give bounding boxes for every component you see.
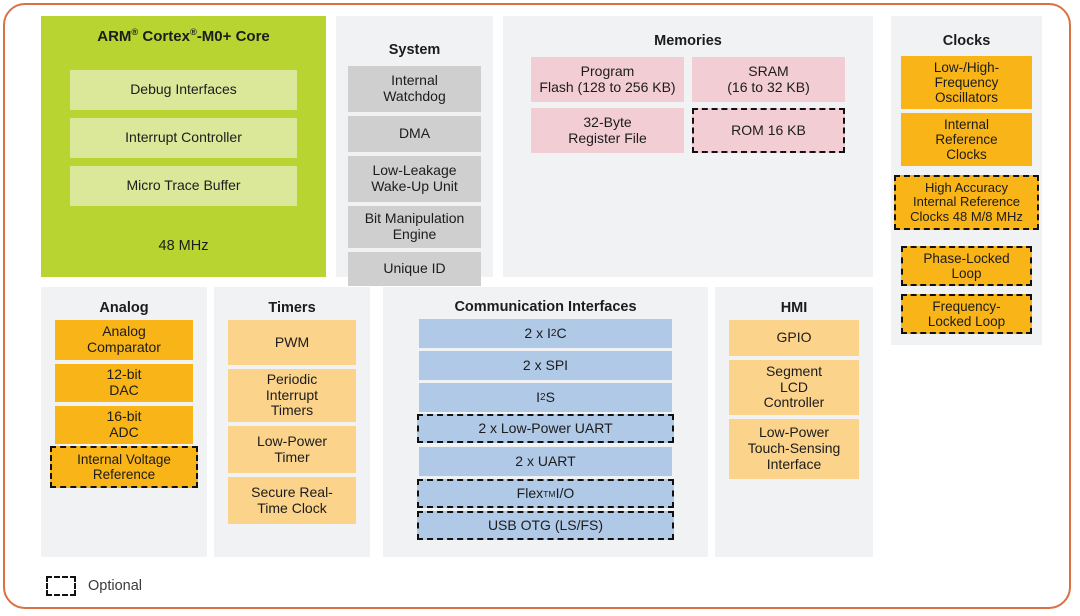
legend: Optional <box>46 576 142 596</box>
legend-optional-label: Optional <box>88 578 142 594</box>
comm-block-spi[interactable]: 2 x SPI <box>419 351 672 380</box>
timers-block-secure-real-time-clock[interactable]: Secure Real-Time Clock <box>228 477 356 524</box>
core-block-micro-trace-buffer[interactable]: Micro Trace Buffer <box>70 166 297 206</box>
block-diagram-canvas: ARM® Cortex®-M0+ Core Debug Interfaces I… <box>0 0 1080 616</box>
panel-hmi: HMI GPIO SegmentLCDController Low-PowerT… <box>715 287 873 557</box>
memories-block-register-file[interactable]: 32-ByteRegister File <box>531 108 684 153</box>
hmi-title: HMI <box>715 300 873 317</box>
analog-block-internal-voltage-reference[interactable]: Internal VoltageReference <box>50 446 198 488</box>
panel-clocks: Clocks Low-/High-FrequencyOscillators In… <box>891 16 1042 345</box>
clocks-block-internal-reference-clocks[interactable]: InternalReferenceClocks <box>901 113 1032 166</box>
comm-block-uart[interactable]: 2 x UART <box>419 447 672 476</box>
comm-block-i2s[interactable]: I2S <box>419 383 672 412</box>
panel-memories: Memories ProgramFlash (128 to 256 KB) SR… <box>503 16 873 277</box>
core-block-debug-interfaces[interactable]: Debug Interfaces <box>70 70 297 110</box>
panel-communication-interfaces: Communication Interfaces 2 x I2C 2 x SPI… <box>383 287 708 557</box>
system-block-internal-watchdog[interactable]: InternalWatchdog <box>348 66 481 112</box>
analog-block-adc[interactable]: 16-bitADC <box>55 406 193 444</box>
clocks-block-high-accuracy-reference-clocks[interactable]: High AccuracyInternal ReferenceClocks 48… <box>894 175 1039 230</box>
core-title: ARM® Cortex®-M0+ Core <box>41 28 326 45</box>
clocks-block-frequency-locked-loop[interactable]: Frequency-Locked Loop <box>901 294 1032 334</box>
analog-title: Analog <box>41 300 207 317</box>
analog-block-analog-comparator[interactable]: AnalogComparator <box>55 320 193 360</box>
memories-block-sram[interactable]: SRAM(16 to 32 KB) <box>692 57 845 102</box>
memories-block-program-flash[interactable]: ProgramFlash (128 to 256 KB) <box>531 57 684 102</box>
comm-block-usb-otg[interactable]: USB OTG (LS/FS) <box>417 511 674 540</box>
comm-block-flex-io[interactable]: FlexTM I/O <box>417 479 674 508</box>
system-title: System <box>336 42 493 59</box>
panel-analog: Analog AnalogComparator 12-bitDAC 16-bit… <box>41 287 207 557</box>
core-block-interrupt-controller[interactable]: Interrupt Controller <box>70 118 297 158</box>
panel-timers: Timers PWM PeriodicInterruptTimers Low-P… <box>214 287 370 557</box>
timers-block-pwm[interactable]: PWM <box>228 320 356 365</box>
timers-title: Timers <box>214 300 370 317</box>
system-block-bit-manipulation-engine[interactable]: Bit ManipulationEngine <box>348 206 481 248</box>
hmi-block-gpio[interactable]: GPIO <box>729 320 859 356</box>
comm-block-low-power-uart[interactable]: 2 x Low-Power UART <box>417 414 674 443</box>
clocks-block-oscillators[interactable]: Low-/High-FrequencyOscillators <box>901 56 1032 109</box>
clocks-block-phase-locked-loop[interactable]: Phase-LockedLoop <box>901 246 1032 286</box>
memories-block-rom[interactable]: ROM 16 KB <box>692 108 845 153</box>
panel-arm-core: ARM® Cortex®-M0+ Core Debug Interfaces I… <box>41 16 326 277</box>
memories-title: Memories <box>503 33 873 50</box>
system-block-low-leakage-wake-up-unit[interactable]: Low-LeakageWake-Up Unit <box>348 156 481 202</box>
hmi-block-segment-lcd-controller[interactable]: SegmentLCDController <box>729 360 859 415</box>
panel-system: System InternalWatchdog DMA Low-LeakageW… <box>336 16 493 277</box>
timers-block-low-power-timer[interactable]: Low-PowerTimer <box>228 426 356 473</box>
communication-title: Communication Interfaces <box>383 299 708 316</box>
timers-block-periodic-interrupt-timers[interactable]: PeriodicInterruptTimers <box>228 369 356 422</box>
dashed-rectangle-icon <box>46 576 76 596</box>
hmi-block-low-power-touch-sensing-interface[interactable]: Low-PowerTouch-SensingInterface <box>729 419 859 479</box>
clocks-title: Clocks <box>891 33 1042 50</box>
core-frequency-label: 48 MHz <box>41 238 326 254</box>
system-block-dma[interactable]: DMA <box>348 116 481 152</box>
system-block-unique-id[interactable]: Unique ID <box>348 252 481 286</box>
analog-block-dac[interactable]: 12-bitDAC <box>55 364 193 402</box>
comm-block-i2c[interactable]: 2 x I2C <box>419 319 672 348</box>
